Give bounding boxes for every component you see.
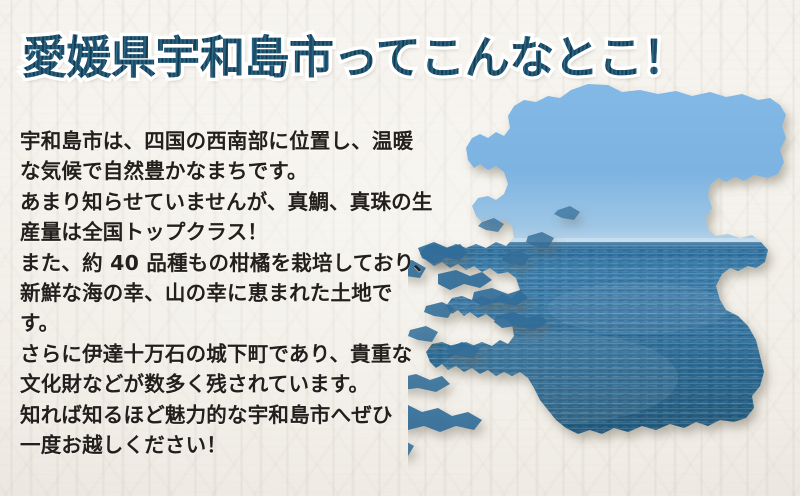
- body-line: さらに伊達十万石の城下町であり、貴重な: [20, 339, 468, 369]
- page-title: 愛媛県宇和島市ってこんなとこ！: [22, 28, 687, 88]
- body-line: 宇和島市は、四国の西南部に位置し、温暖: [20, 126, 468, 156]
- body-line: 新鮮な海の幸、山の幸に恵まれた土地で: [20, 278, 468, 308]
- body-line: また、約 40 品種もの柑橘を栽培しており、: [20, 248, 468, 278]
- headline-block: 愛媛県宇和島市ってこんなとこ！ 愛媛県宇和島市ってこんなとこ！: [22, 28, 782, 92]
- body-copy-block: 宇和島市は、四国の西南部に位置し、温暖 な気候で自然豊かなまちです。 あまり知ら…: [20, 126, 468, 460]
- body-line: 文化財などが数多く残されています。: [20, 369, 468, 399]
- body-line: 産量は全国トップクラス！: [20, 217, 468, 247]
- body-line: あまり知らせていませんが、真鯛、真珠の生: [20, 187, 468, 217]
- body-line: な気候で自然豊かなまちです。: [20, 156, 468, 186]
- body-line: 一度お越しください！: [20, 430, 468, 460]
- uwajima-promo-banner: 愛媛県宇和島市ってこんなとこ！ 愛媛県宇和島市ってこんなとこ！: [0, 0, 800, 496]
- body-line: す。: [20, 308, 468, 338]
- body-line: 知れば知るほど魅力的な宇和島市へぜひ: [20, 400, 468, 430]
